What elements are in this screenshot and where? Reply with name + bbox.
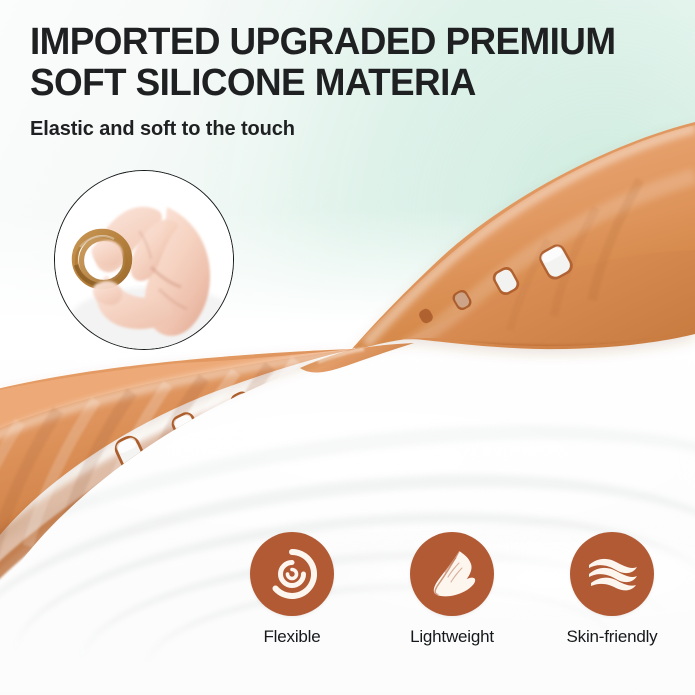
feature-label: Flexible: [264, 627, 321, 647]
hand-inset-photo: [54, 170, 234, 350]
feather-icon: [423, 545, 481, 603]
waves-icon: [583, 545, 641, 603]
spiral-icon: [263, 545, 321, 603]
feature-label: Skin-friendly: [567, 627, 658, 647]
feature-icon-badge: [570, 532, 654, 616]
feature-icon-badge: [410, 532, 494, 616]
page-title: IMPORTED UPGRADED PREMIUM SOFT SILICONE …: [30, 22, 661, 104]
feature-item-flexible: Flexible: [232, 532, 352, 647]
feature-icon-badge: [250, 532, 334, 616]
feature-item-skin-friendly: Skin-friendly: [552, 532, 672, 647]
feature-list: Flexible: [232, 532, 672, 647]
feature-item-lightweight: Lightweight: [392, 532, 512, 647]
product-feature-banner: IMPORTED UPGRADED PREMIUM SOFT SILICONE …: [0, 0, 695, 695]
feature-label: Lightweight: [410, 627, 494, 647]
subtitle: Elastic and soft to the touch: [30, 118, 680, 141]
headline-block: IMPORTED UPGRADED PREMIUM SOFT SILICONE …: [30, 22, 680, 141]
